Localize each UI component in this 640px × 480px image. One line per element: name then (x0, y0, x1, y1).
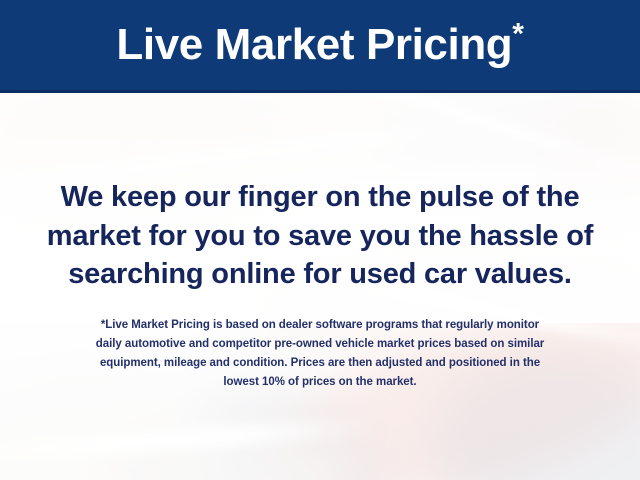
live-market-pricing-ad: Live Market Pricing* We keep our finger … (0, 0, 640, 480)
headline-line-2: market for you to save you the hassle of (26, 217, 614, 256)
headline-line-3: searching online for used car values. (26, 255, 614, 294)
headline-line-1: We keep our finger on the pulse of the (26, 178, 614, 217)
page-title: Live Market Pricing* (116, 23, 523, 70)
page-title-text: Live Market Pricing (116, 20, 512, 69)
disclaimer-fineprint: *Live Market Pricing is based on dealer … (0, 316, 640, 392)
header-banner: Live Market Pricing* (0, 0, 640, 93)
disclaimer-line-2: daily automotive and competitor pre-owne… (24, 335, 616, 354)
disclaimer-line-3: equipment, mileage and condition. Prices… (24, 354, 616, 373)
disclaimer-line-4: lowest 10% of prices on the market. (24, 373, 616, 392)
disclaimer-line-1: *Live Market Pricing is based on dealer … (24, 316, 616, 335)
page-title-asterisk: * (512, 17, 523, 50)
headline: We keep our finger on the pulse of the m… (0, 178, 640, 294)
